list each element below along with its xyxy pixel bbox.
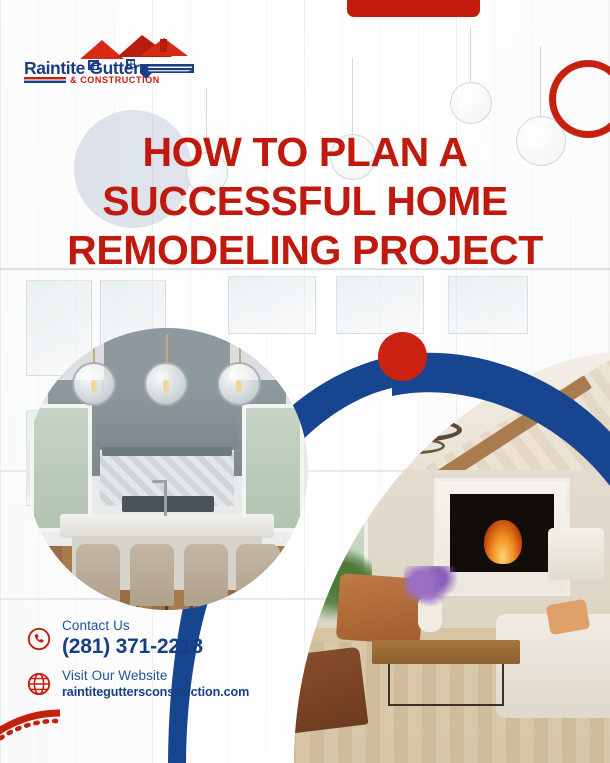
background-pendant-globe bbox=[450, 82, 492, 124]
contact-phone-value[interactable]: (281) 371-2218 bbox=[62, 634, 203, 659]
contact-phone-label: Contact Us bbox=[62, 618, 203, 634]
contact-block: Contact Us (281) 371-2218 Visit Our Webs… bbox=[27, 618, 287, 709]
pendant-light-icon bbox=[72, 362, 116, 406]
background-pendant-cord bbox=[540, 46, 541, 118]
page-title: HOW TO PLAN A SUCCESSFUL HOME REMODELING… bbox=[0, 128, 610, 275]
background-pendant-cord bbox=[470, 28, 471, 84]
kitchen-circle-photo bbox=[26, 328, 308, 610]
globe-icon bbox=[27, 672, 51, 696]
pendant-light-icon bbox=[217, 362, 261, 406]
red-dot-decoration bbox=[378, 332, 427, 381]
headline-line-3: REMODELING PROJECT bbox=[0, 226, 610, 275]
phone-circle-icon bbox=[27, 627, 51, 651]
headline-line-2: SUCCESSFUL HOME bbox=[0, 177, 610, 226]
contact-website-value[interactable]: raintiteguttersconstruction.com bbox=[62, 684, 249, 700]
pendant-light-icon bbox=[144, 362, 188, 406]
svg-text:& CONSTRUCTION: & CONSTRUCTION bbox=[70, 75, 160, 84]
top-red-tab bbox=[347, 0, 480, 17]
logo-wordmark: Raintite Gutters & CONSTRUCTION bbox=[24, 58, 160, 84]
headline-line-1: HOW TO PLAN A bbox=[0, 128, 610, 177]
company-logo[interactable]: Raintite Gutters & CONSTRUCTION bbox=[22, 26, 198, 84]
contact-website-row[interactable]: Visit Our Website raintiteguttersconstru… bbox=[27, 668, 287, 700]
poster-canvas: Raintite Gutters & CONSTRUCTION HOW TO P… bbox=[0, 0, 610, 763]
contact-phone-row[interactable]: Contact Us (281) 371-2218 bbox=[27, 618, 287, 659]
background-pendant-cord bbox=[352, 58, 353, 136]
contact-website-label: Visit Our Website bbox=[62, 668, 249, 684]
